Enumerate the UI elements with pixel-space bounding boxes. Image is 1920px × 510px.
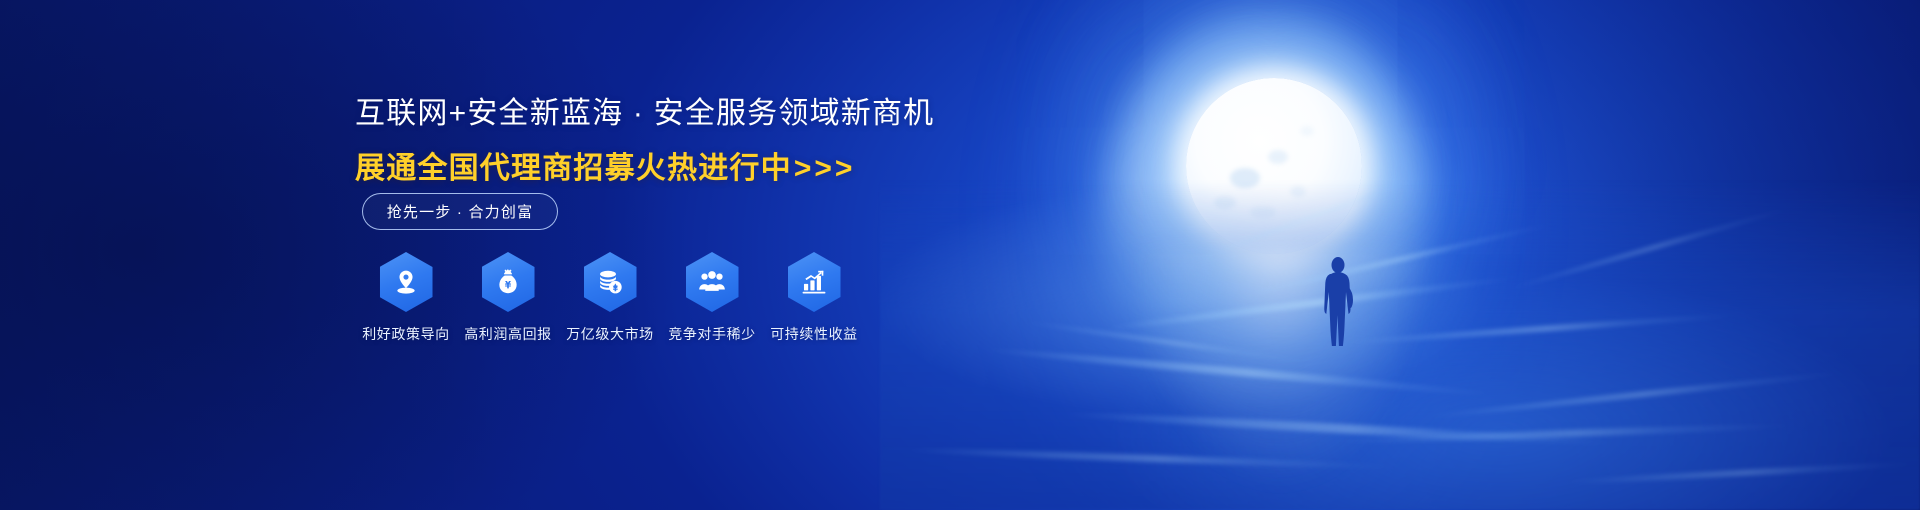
feature-label: 高利润高回报: [464, 324, 552, 344]
feature-list: 利好政策导向 高利润高回报: [355, 252, 865, 344]
hexagon-badge: [686, 252, 739, 312]
feature-label: 万亿级大市场: [566, 324, 654, 344]
page-title: 互联网+安全新蓝海 · 安全服务领域新商机: [355, 96, 934, 132]
coin-stack-yuan-icon: [596, 268, 624, 296]
people-group-icon: [698, 268, 726, 296]
moon-crater: [1268, 150, 1288, 164]
person-silhouette-icon: [1318, 255, 1358, 367]
content-area: 互联网+安全新蓝海 · 安全服务领域新商机 展通全国代理商招募火热进行中>>> …: [0, 0, 1000, 510]
subheadline-text: 展通全国代理商招募火热进行中: [355, 152, 792, 185]
location-pin-icon: [392, 268, 420, 296]
feature-label: 竞争对手稀少: [668, 324, 756, 344]
feature-item-revenue[interactable]: 可持续性收益: [763, 252, 865, 344]
cta-button[interactable]: 抢先一步 · 合力创富: [362, 193, 558, 230]
money-bag-yuan-icon: [494, 268, 522, 296]
feature-label: 利好政策导向: [362, 324, 450, 344]
hexagon-badge: [788, 252, 841, 312]
chevron-right-icons: >>>: [794, 152, 856, 185]
feature-label: 可持续性收益: [770, 324, 858, 344]
feature-item-competition[interactable]: 竞争对手稀少: [661, 252, 763, 344]
promo-banner: 互联网+安全新蓝海 · 安全服务领域新商机 展通全国代理商招募火热进行中>>> …: [0, 0, 1920, 510]
cta-button-label: 抢先一步 · 合力创富: [387, 201, 534, 222]
moon-crater: [1300, 126, 1314, 136]
subheadline: 展通全国代理商招募火热进行中>>>: [355, 143, 855, 187]
hexagon-badge: [380, 252, 433, 312]
feature-item-policy[interactable]: 利好政策导向: [355, 252, 457, 344]
hexagon-badge: [584, 252, 637, 312]
feature-item-market[interactable]: 万亿级大市场: [559, 252, 661, 344]
hexagon-badge: [482, 252, 535, 312]
feature-item-profit[interactable]: 高利润高回报: [457, 252, 559, 344]
bar-chart-growth-icon: [800, 268, 828, 296]
